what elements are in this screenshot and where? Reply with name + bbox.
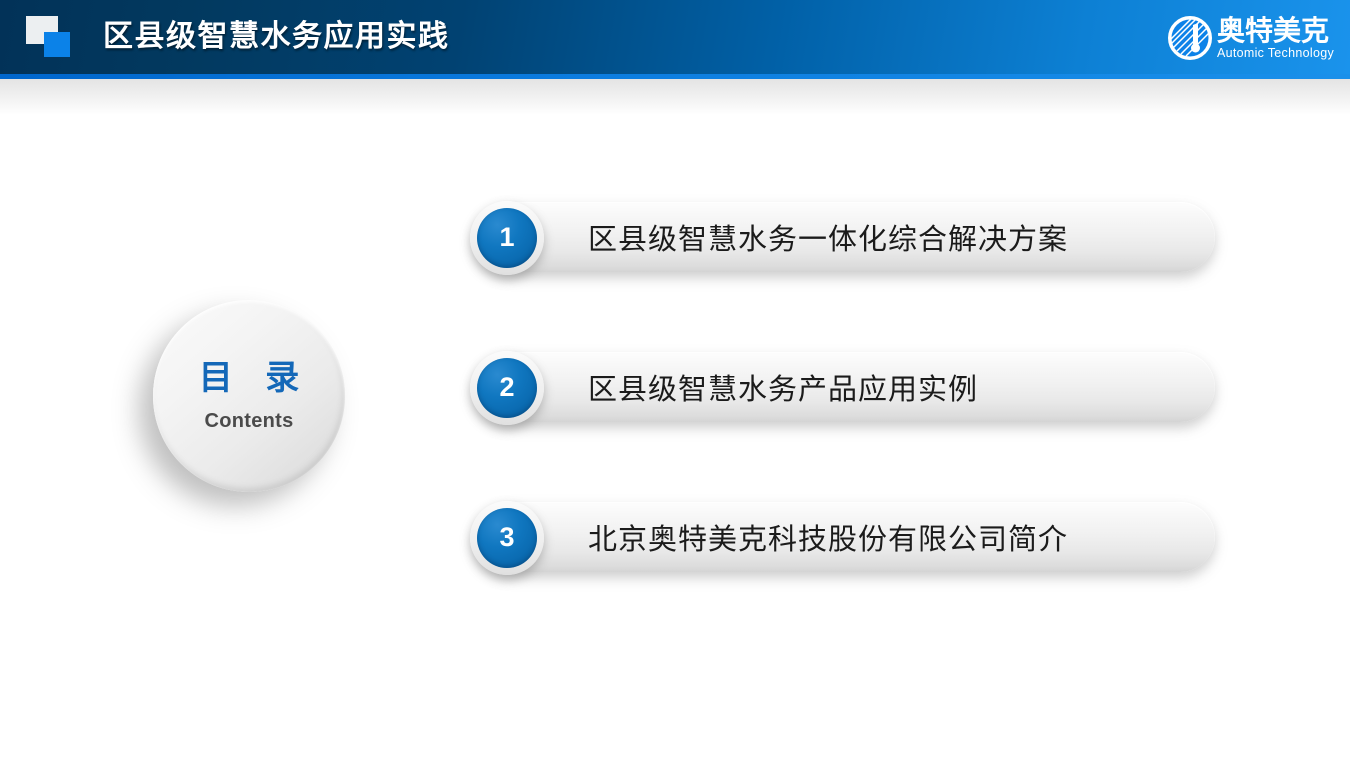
- agenda-number-badge: 3: [470, 501, 544, 575]
- agenda-item-label: 北京奥特美克科技股份有限公司简介: [588, 502, 1068, 572]
- slide-header: 区县级智慧水务应用实践: [0, 0, 1350, 74]
- contents-title-cn: 目 录: [187, 359, 312, 398]
- contents-title-en: Contents: [204, 410, 293, 433]
- square-blue: [44, 32, 70, 57]
- agenda-number-badge: 2: [470, 351, 544, 425]
- header-fade-shadow: [0, 79, 1350, 115]
- slide-canvas: 区县级智慧水务应用实践: [0, 0, 1350, 759]
- agenda-number-badge: 1: [470, 201, 544, 275]
- agenda-number: 1: [477, 208, 537, 268]
- automic-circle-logo-icon: [1167, 15, 1213, 61]
- page-title: 区县级智慧水务应用实践: [103, 16, 450, 58]
- agenda-item-2[interactable]: 区县级智慧水务产品应用实例 2: [470, 352, 1215, 424]
- agenda-list: 区县级智慧水务一体化综合解决方案 1 区县级智慧水务产品应用实例 2 北京奥特美…: [470, 196, 1230, 616]
- logo-name-cn: 奥特美克: [1217, 17, 1334, 45]
- two-squares-logo-icon: [26, 16, 82, 60]
- company-logo: 奥特美克 Automic Technology: [1167, 13, 1334, 63]
- logo-text-block: 奥特美克 Automic Technology: [1217, 17, 1334, 60]
- agenda-item-1[interactable]: 区县级智慧水务一体化综合解决方案 1: [470, 202, 1215, 274]
- agenda-item-3[interactable]: 北京奥特美克科技股份有限公司简介 3: [470, 502, 1215, 574]
- logo-name-en: Automic Technology: [1217, 47, 1334, 60]
- contents-circle: 目 录 Contents: [153, 300, 345, 492]
- agenda-item-label: 区县级智慧水务一体化综合解决方案: [588, 202, 1068, 272]
- agenda-item-label: 区县级智慧水务产品应用实例: [588, 352, 978, 422]
- agenda-number: 2: [477, 358, 537, 418]
- agenda-number: 3: [477, 508, 537, 568]
